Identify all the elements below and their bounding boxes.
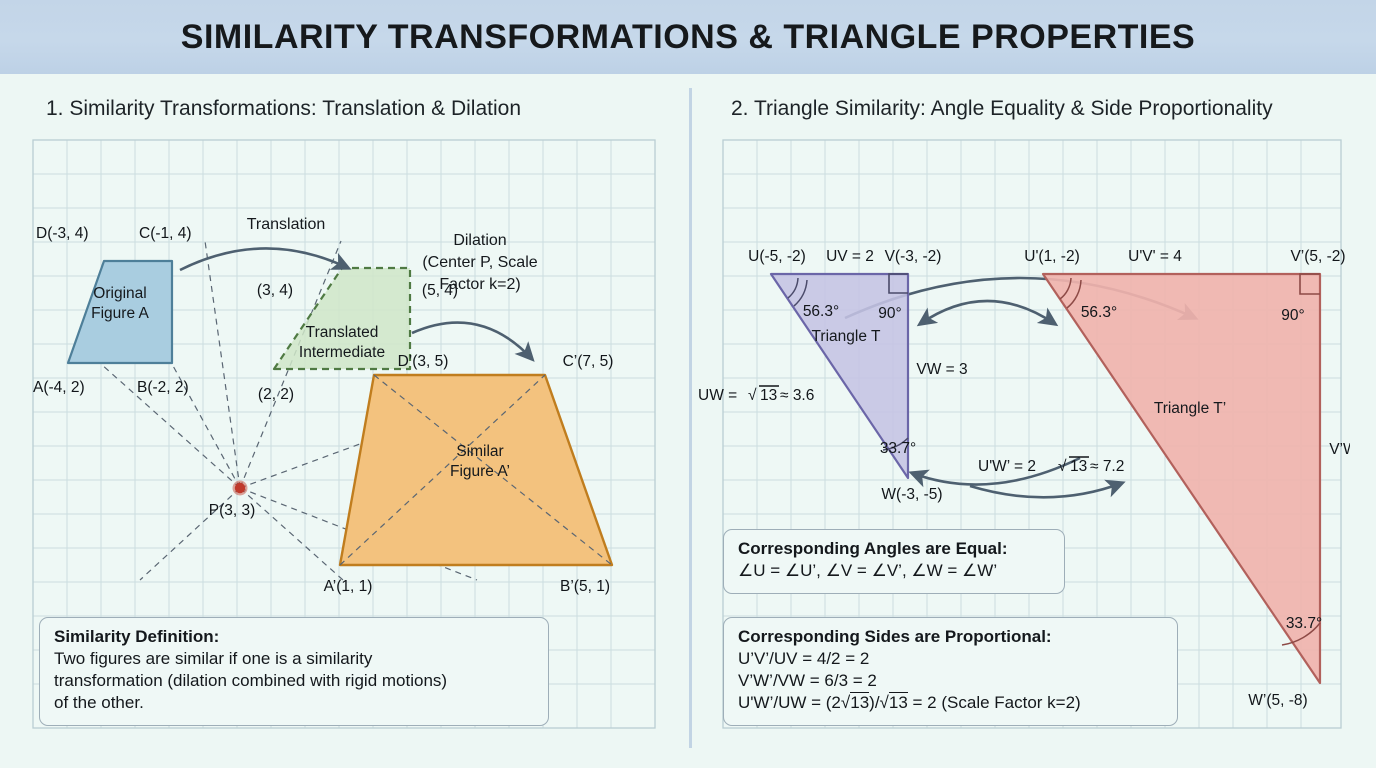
side-label-vw: VW = 3: [916, 361, 967, 378]
panel-1-title: 1. Similarity Transformations: Translati…: [46, 97, 521, 121]
dilation-arrow-label-2: (Center P, Scale: [422, 254, 537, 271]
side-label-uw-prime-radicand: 13: [1070, 458, 1087, 475]
translated-name-line2: Intermediate: [299, 344, 385, 361]
angles-box-line1: ∠U = ∠U’, ∠V = ∠V’, ∠W = ∠W’: [738, 560, 1050, 582]
sides-line3-mid: )/: [869, 693, 879, 712]
translation-arrow-label: Translation: [247, 216, 326, 233]
page-title: SIMILARITY TRANSFORMATIONS & TRIANGLE PR…: [181, 18, 1195, 57]
sides-line3-radicand-2: 13: [889, 692, 908, 712]
side-label-uv-prime: U'V' = 4: [1128, 248, 1182, 265]
angles-box-title: Corresponding Angles are Equal:: [738, 539, 1050, 559]
sides-line3-post: = 2 (Scale Factor k=2): [908, 693, 1081, 712]
translated-vertex-3-4: (3, 4): [257, 282, 293, 299]
dilation-arrow-label-1: Dilation: [453, 232, 506, 249]
vertex-label-a-prime: A’(1, 1): [324, 578, 373, 595]
translated-vertex-2-2: (2, 2): [258, 386, 294, 403]
radical-sign-uw-prime: √: [1058, 458, 1067, 475]
vertex-label-u: U(-5, -2): [748, 248, 806, 265]
vertex-label-c-prime: C’(7, 5): [563, 353, 614, 370]
similar-name-line2: Figure A’: [450, 463, 510, 480]
sides-box-line1: U’V’/UV = 4/2 = 2: [738, 648, 1163, 670]
angle-label-v: 90°: [878, 305, 901, 322]
angle-label-w-prime: 33.7°: [1286, 615, 1322, 632]
angle-label-v-prime: 90°: [1281, 307, 1304, 324]
vertex-label-w-prime: W’(5, -8): [1248, 692, 1307, 709]
side-label-uv: UV = 2: [826, 248, 874, 265]
radical-sign-1: √: [841, 693, 850, 712]
sides-box-line3: U'W’/UW = (2√13)/√13 = 2 (Scale Factor k…: [738, 692, 1163, 714]
angle-label-u-prime: 56.3°: [1081, 304, 1117, 321]
center-point-label: P(3, 3): [209, 502, 256, 519]
definition-box-line2: transformation (dilation combined with r…: [54, 670, 534, 692]
vertex-label-v-prime: V’(5, -2): [1290, 248, 1345, 265]
definition-box-line3: of the other.: [54, 692, 534, 714]
similar-name-line1: Similar: [456, 443, 503, 460]
vertex-label-v: V(-3, -2): [885, 248, 942, 265]
figure-a-name-line1: Original: [93, 285, 146, 302]
vertex-label-a: A(-4, 2): [33, 379, 85, 396]
translated-name-line1: Translated: [306, 324, 379, 341]
corresponding-angles-box: Corresponding Angles are Equal: ∠U = ∠U’…: [723, 529, 1065, 594]
sides-line3-radicand-1: 13: [850, 692, 869, 712]
definition-box-title: Similarity Definition:: [54, 627, 534, 647]
side-label-uw: UW = √ 13 ≈ 3.6: [698, 386, 814, 404]
similarity-definition-box: Similarity Definition: Two figures are s…: [39, 617, 549, 726]
figure-a-name-line2: Figure A: [91, 305, 149, 322]
vertex-label-b-prime: B’(5, 1): [560, 578, 610, 595]
triangle-t-prime-name: Triangle T’: [1154, 400, 1226, 417]
side-label-uw-pre: UW =: [698, 387, 737, 404]
sides-box-title: Corresponding Sides are Proportional:: [738, 627, 1163, 647]
side-label-uw-approx: ≈ 3.6: [780, 387, 814, 404]
sides-box-line2: V’W’/VW = 6/3 = 2: [738, 670, 1163, 692]
side-label-vw-prime: V’W’ = 6: [1329, 441, 1350, 458]
definition-box-line1: Two figures are similar if one is a simi…: [54, 648, 534, 670]
vertex-label-u-prime: U'(1, -2): [1024, 248, 1080, 265]
angle-label-u: 56.3°: [803, 303, 839, 320]
sides-line3-pre: U'W’/UW = (2: [738, 693, 841, 712]
radical-sign-2: √: [880, 693, 889, 712]
angle-label-w: 33.7°: [880, 440, 916, 457]
page-header: SIMILARITY TRANSFORMATIONS & TRIANGLE PR…: [0, 0, 1376, 74]
side-label-uw-prime-approx: ≈ 7.2: [1090, 458, 1124, 475]
radical-sign-uw: √: [748, 387, 757, 404]
vertex-label-d: D(-3, 4): [36, 225, 89, 242]
side-label-uw-radicand: 13: [760, 387, 777, 404]
corresponding-sides-box: Corresponding Sides are Proportional: U’…: [723, 617, 1178, 726]
vertex-label-w: W(-3, -5): [881, 486, 942, 503]
triangle-t-name: Triangle T: [812, 328, 881, 345]
side-label-uw-prime-pre: U'W’ = 2: [978, 458, 1036, 475]
panel-2-title: 2. Triangle Similarity: Angle Equality &…: [731, 97, 1273, 121]
vertex-label-b: B(-2, 2): [137, 379, 189, 396]
vertex-label-c: C(-1, 4): [139, 225, 192, 242]
vertex-label-d-prime: D’(3, 5): [398, 353, 449, 370]
dilation-arrow-label-3: Factor k=2): [439, 276, 520, 293]
infographic-page: SIMILARITY TRANSFORMATIONS & TRIANGLE PR…: [0, 0, 1376, 768]
